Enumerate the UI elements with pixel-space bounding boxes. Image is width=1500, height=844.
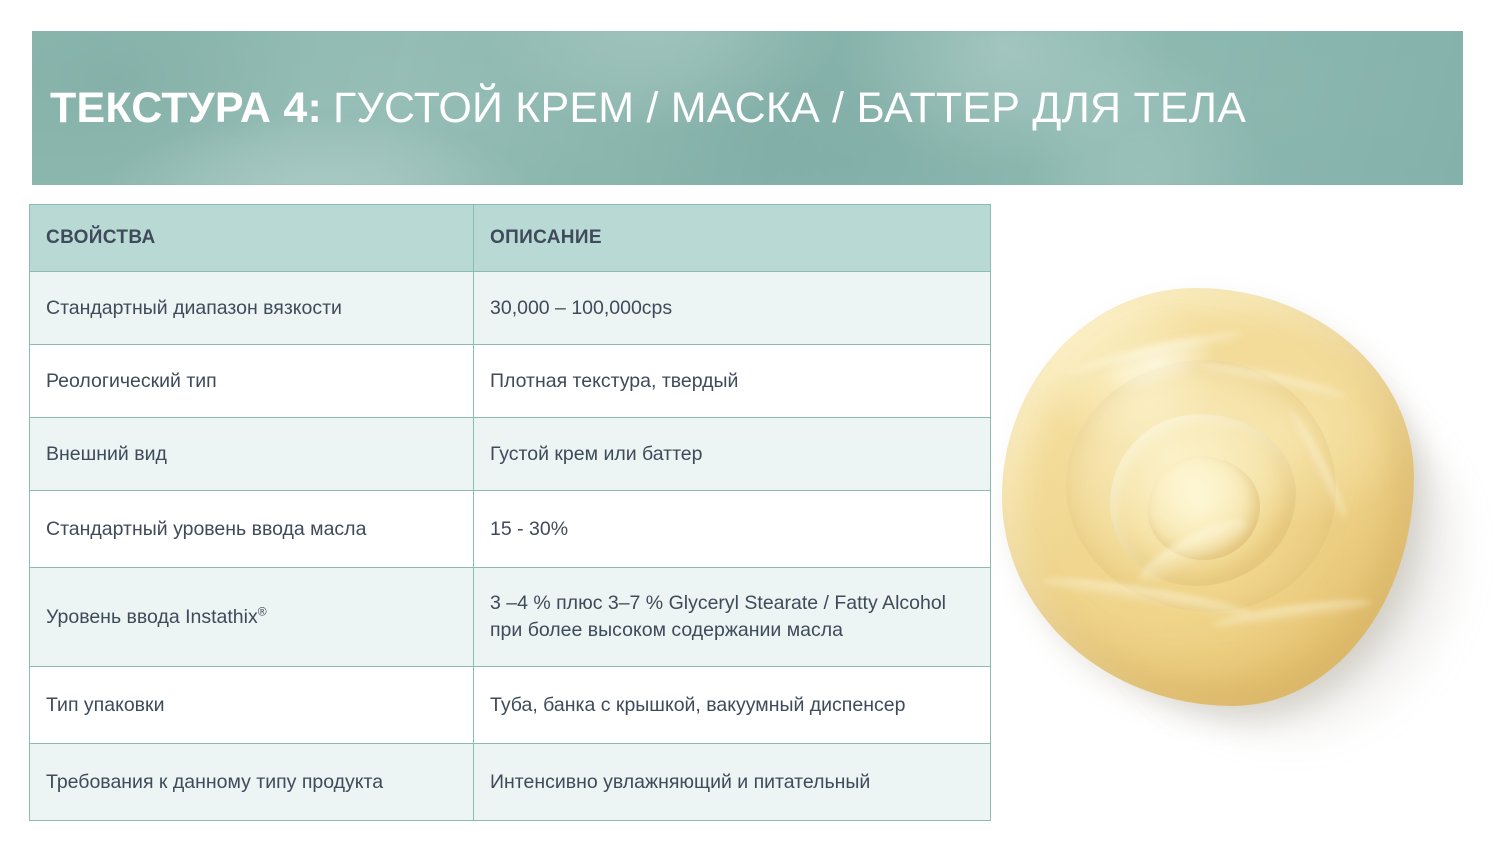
column-header-description: ОПИСАНИЕ	[474, 205, 991, 272]
table-row: Тип упаковки Туба, банка с крышкой, ваку…	[30, 667, 991, 744]
cell-property: Требования к данному типу продукта	[30, 744, 474, 821]
table-row: Стандартный уровень ввода масла 15 - 30%	[30, 491, 991, 568]
body-butter-blob	[1002, 288, 1414, 706]
cell-property: Внешний вид	[30, 418, 474, 491]
texture-ridge	[1212, 595, 1373, 632]
cell-description: Плотная текстура, твердый	[474, 345, 991, 418]
cell-property-text: Уровень ввода Instathix	[46, 606, 258, 628]
table-row: Внешний вид Густой крем или баттер	[30, 418, 991, 491]
page-title-strong: ТЕКСТУРА 4:	[50, 84, 322, 133]
table-header-row: СВОЙСТВА ОПИСАНИЕ	[30, 205, 991, 272]
specification-table: СВОЙСТВА ОПИСАНИЕ Стандартный диапазон в…	[29, 204, 991, 821]
table-row: Реологический тип Плотная текстура, твер…	[30, 345, 991, 418]
page-title-light: ГУСТОЙ КРЕМ / МАСКА / БАТТЕР ДЛЯ ТЕЛА	[333, 84, 1246, 133]
texture-ridge	[1285, 408, 1351, 521]
specular-highlight	[1094, 323, 1223, 406]
product-texture-image	[988, 262, 1480, 762]
cell-property: Уровень ввода Instathix®	[30, 568, 474, 667]
slide-header-banner: ТЕКСТУРА 4: ГУСТОЙ КРЕМ / МАСКА / БАТТЕР…	[32, 31, 1463, 185]
table-body: Стандартный диапазон вязкости 30,000 – 1…	[30, 272, 991, 821]
swirl-ring-middle	[1110, 414, 1296, 586]
cell-description: 15 - 30%	[474, 491, 991, 568]
texture-ridge	[1198, 359, 1348, 404]
cell-property: Стандартный диапазон вязкости	[30, 272, 474, 345]
table-row: Требования к данному типу продукта Интен…	[30, 744, 991, 821]
cell-description: Густой крем или баттер	[474, 418, 991, 491]
cell-description: 3 –4 % плюс 3–7 % Glyceryl Stearate / Fa…	[474, 568, 991, 667]
texture-ridge	[1042, 572, 1252, 623]
texture-ridge	[1134, 510, 1254, 593]
cell-description: Туба, банка с крышкой, вакуумный диспенс…	[474, 667, 991, 744]
page-title: ТЕКСТУРА 4: ГУСТОЙ КРЕМ / МАСКА / БАТТЕР…	[50, 31, 1445, 185]
cell-description: 30,000 – 100,000cps	[474, 272, 991, 345]
cell-description: Интенсивно увлажняющий и питательный	[474, 744, 991, 821]
cell-property: Стандартный уровень ввода масла	[30, 491, 474, 568]
cell-property: Тип упаковки	[30, 667, 474, 744]
column-header-properties: СВОЙСТВА	[30, 205, 474, 272]
registered-trademark-icon: ®	[258, 604, 267, 618]
swirl-ring-inner	[1148, 456, 1260, 560]
cell-property: Реологический тип	[30, 345, 474, 418]
table-row: Уровень ввода Instathix® 3 –4 % плюс 3–7…	[30, 568, 991, 667]
table-header: СВОЙСТВА ОПИСАНИЕ	[30, 205, 991, 272]
swirl-ring-outer	[1066, 360, 1336, 612]
table-row: Стандартный диапазон вязкости 30,000 – 1…	[30, 272, 991, 345]
